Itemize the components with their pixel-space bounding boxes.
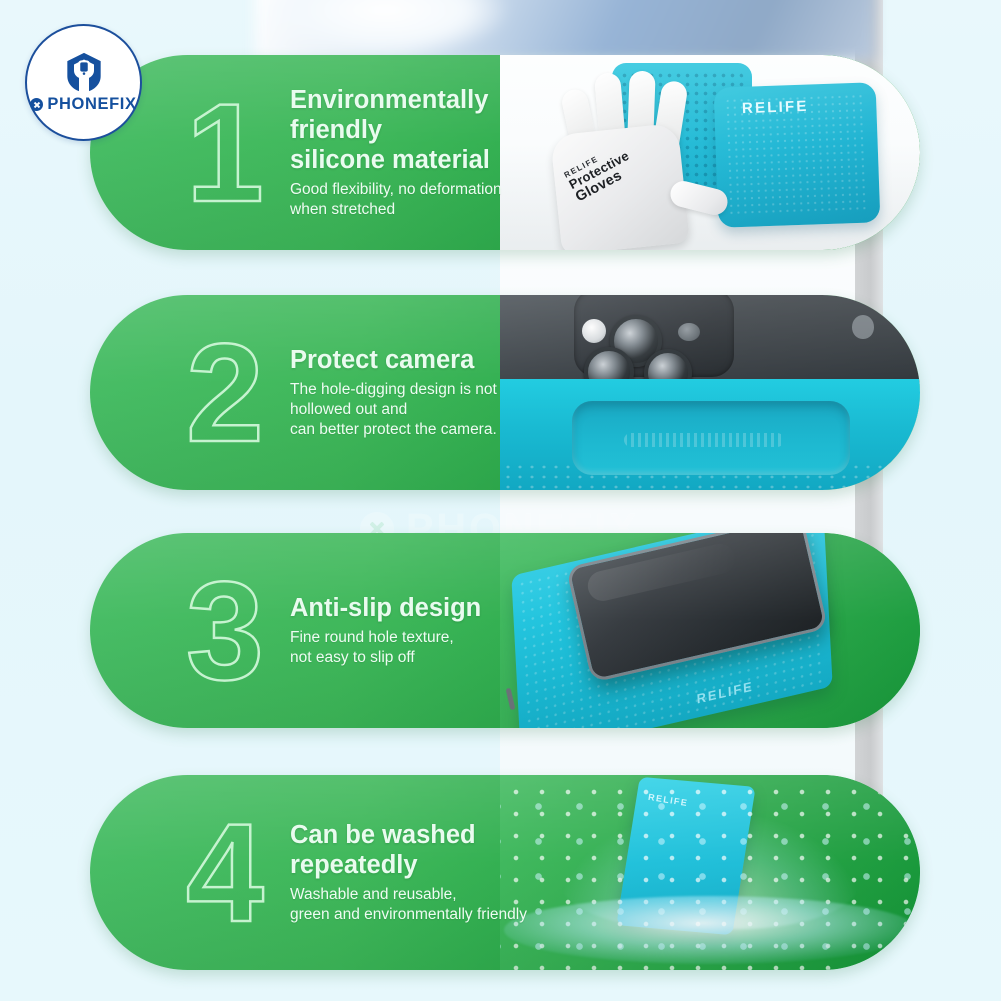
feature-subtitle-3: Fine round hole texture, not easy to sli… bbox=[290, 628, 620, 669]
apple-logo-mark bbox=[852, 315, 874, 339]
pad-brand-label: RELIFE bbox=[742, 98, 809, 117]
subtitle-line: not easy to slip off bbox=[290, 649, 415, 666]
subtitle-line: Washable and reusable, bbox=[290, 886, 457, 903]
title-line: Anti-slip design bbox=[290, 594, 481, 622]
feature-text-4: Can be washed repeatedly Washable and re… bbox=[290, 819, 620, 925]
feature-text-2: Protect camera The hole-digging design i… bbox=[290, 344, 620, 440]
subtitle-line: Good flexibility, no deformation bbox=[290, 181, 502, 198]
title-line: Can be washed bbox=[290, 820, 476, 848]
feature-subtitle-4: Washable and reusable, green and environ… bbox=[290, 885, 620, 926]
product-feature-infographic: PHONEFIX PHONEFIX RELIFE bbox=[0, 0, 1001, 1001]
subtitle-line: when stretched bbox=[290, 201, 395, 218]
feature-number-4: 4 bbox=[186, 803, 264, 943]
feature-number-3: 3 bbox=[186, 561, 264, 701]
background-blurred-photo bbox=[255, 0, 875, 60]
feature-card-3: RELIFE 3 Anti-slip design Fine round hol… bbox=[90, 533, 920, 728]
charging-port bbox=[506, 688, 516, 711]
feature-title-2: Protect camera bbox=[290, 344, 620, 374]
feature-card-4: RELIFE 4 Can be washed repeatedly Washab… bbox=[90, 775, 920, 970]
subtitle-line: can better protect the camera. bbox=[290, 421, 497, 438]
feature-card-2: 2 Protect camera The hole-digging design… bbox=[90, 295, 920, 490]
subtitle-line: The hole-digging design is not bbox=[290, 380, 497, 397]
feature-text-3: Anti-slip design Fine round hole texture… bbox=[290, 593, 620, 669]
logo-wordmark-row: PHONEFIX bbox=[30, 95, 136, 114]
feature-card-1: RELIFE RELIFE Protective Gloves 1 Enviro… bbox=[90, 55, 920, 250]
phonefix-logo-badge: PHONEFIX bbox=[25, 24, 142, 141]
subtitle-line: hollowed out and bbox=[290, 401, 407, 418]
title-line: friendly bbox=[290, 116, 382, 144]
feature-photo-1: RELIFE RELIFE Protective Gloves bbox=[500, 55, 920, 250]
title-line: silicone material bbox=[290, 146, 490, 174]
protective-glove: RELIFE Protective Gloves bbox=[542, 59, 742, 249]
feature-number-2: 2 bbox=[186, 323, 264, 463]
hex-phone-wrench-icon bbox=[64, 51, 104, 93]
feature-title-4: Can be washed repeatedly bbox=[290, 819, 620, 879]
subtitle-line: green and environmentally friendly bbox=[290, 906, 527, 923]
camera-flash bbox=[582, 319, 606, 343]
logo-cross-icon bbox=[30, 98, 43, 111]
subtitle-line: Fine round hole texture, bbox=[290, 629, 454, 646]
lidar-sensor bbox=[678, 323, 700, 341]
logo-wordmark: PHONEFIX bbox=[47, 95, 136, 114]
title-line: Protect camera bbox=[290, 345, 474, 373]
feature-title-3: Anti-slip design bbox=[290, 593, 620, 623]
feature-number-1: 1 bbox=[186, 83, 264, 223]
feature-subtitle-2: The hole-digging design is not hollowed … bbox=[290, 379, 620, 440]
title-line: repeatedly bbox=[290, 851, 418, 879]
title-line: Environmentally bbox=[290, 85, 488, 113]
